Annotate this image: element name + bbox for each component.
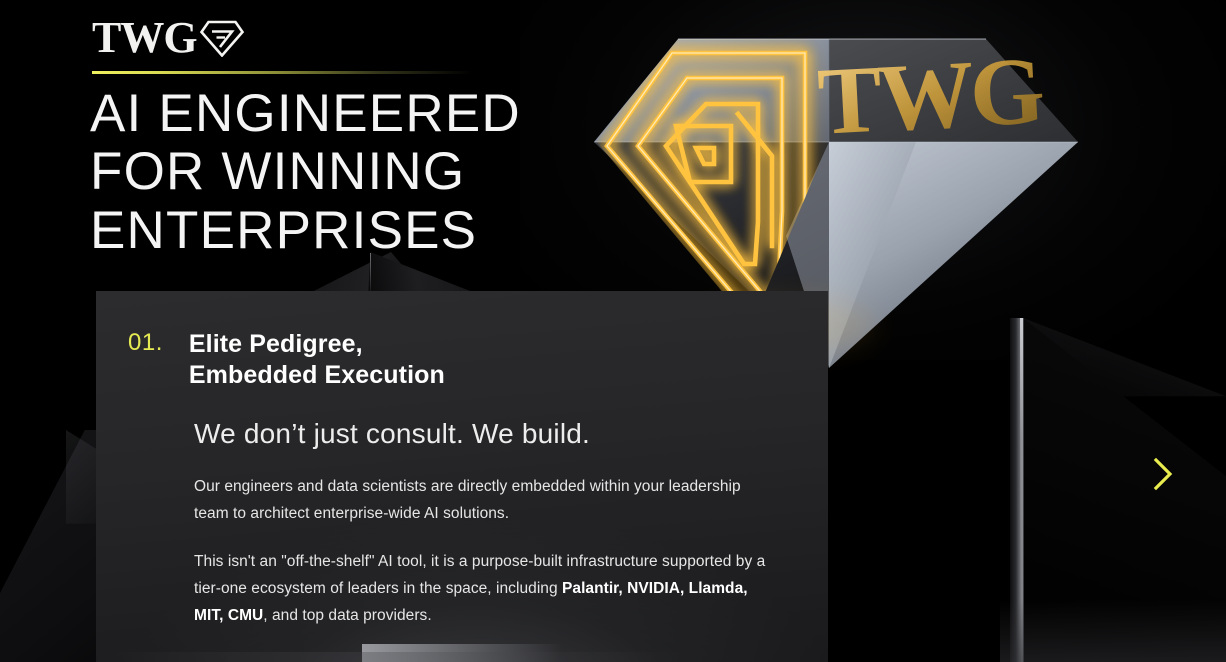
feature-card-number: 01. — [128, 329, 163, 357]
hero-slide: TWG — [0, 0, 1226, 662]
brand-wordmark: TWG — [92, 16, 197, 60]
feature-card-paragraph-2: This isn't an "off-the-shelf" AI tool, i… — [194, 549, 774, 629]
background-floor-right — [1000, 600, 1226, 662]
brand-divider — [92, 71, 472, 74]
next-slide-button[interactable] — [1146, 454, 1180, 494]
diamond-engraved-text: TWG — [815, 36, 1045, 155]
brand-logo[interactable]: TWG — [92, 16, 245, 60]
floor-light-wash — [96, 652, 836, 662]
chevron-right-icon — [1152, 457, 1174, 491]
feature-card-paragraph-1: Our engineers and data scientists are di… — [194, 474, 774, 527]
paragraph-2-tail: , and top data providers. — [263, 607, 431, 624]
feature-card-subtitle: We don’t just consult. We build. — [194, 418, 784, 450]
feature-card-header: 01. Elite Pedigree, Embedded Execution — [128, 329, 784, 390]
diamond-logo-icon — [201, 19, 245, 57]
feature-card-title: Elite Pedigree, Embedded Execution — [189, 329, 445, 390]
feature-card: 01. Elite Pedigree, Embedded Execution W… — [96, 291, 828, 662]
page-title: AI ENGINEERED FOR WINNING ENTERPRISES — [90, 85, 610, 260]
